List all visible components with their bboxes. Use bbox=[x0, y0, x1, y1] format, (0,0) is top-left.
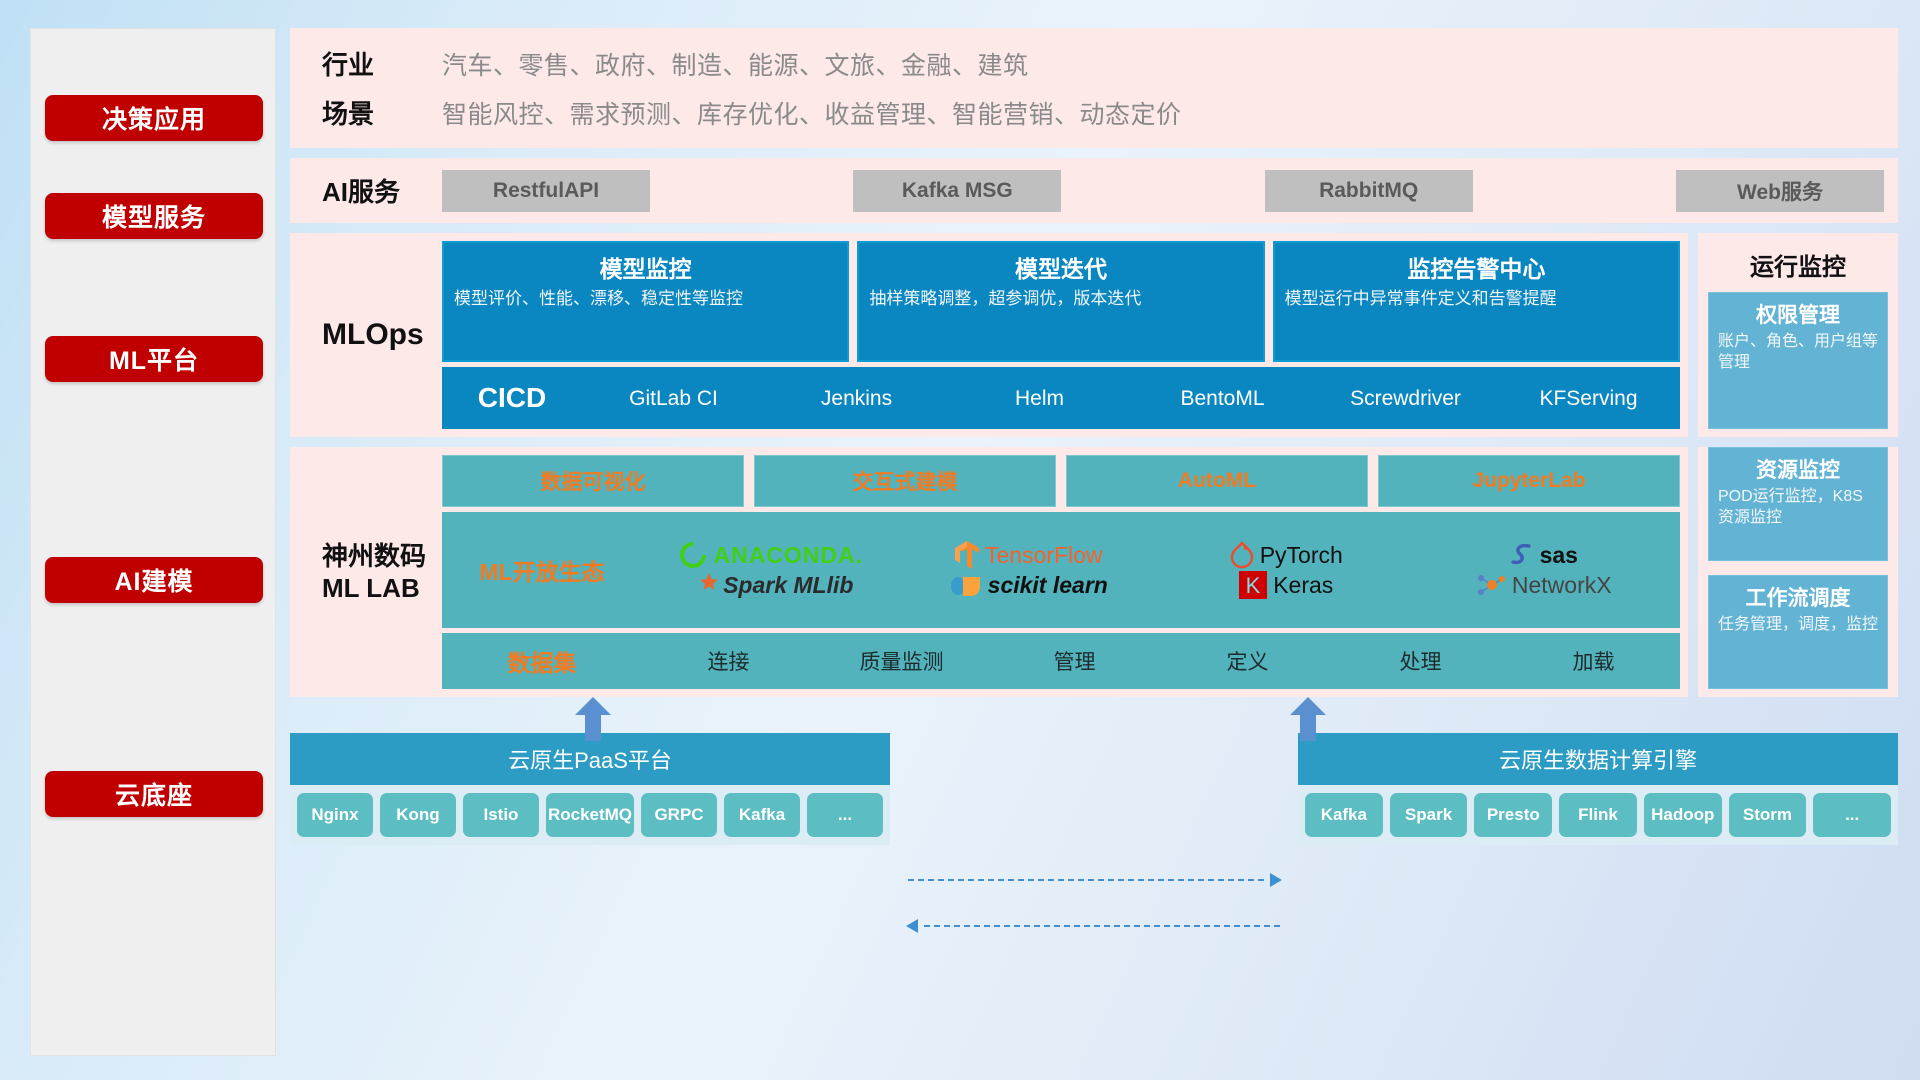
spark-mllib-label: Spark MLlib bbox=[723, 572, 853, 599]
scenario-row: 场景 智能风控、需求预测、库存优化、收益管理、智能营销、动态定价 bbox=[322, 94, 1898, 131]
tool-jupyterlab[interactable]: JupyterLab bbox=[1378, 455, 1680, 507]
ml-ecosystem-label: ML开放生态 bbox=[442, 553, 642, 587]
dataset-label: 数据集 bbox=[442, 644, 642, 678]
paas-chip-more[interactable]: ... bbox=[807, 793, 883, 837]
pytorch-label: PyTorch bbox=[1260, 542, 1343, 569]
cicd-item-bentoml[interactable]: BentoML bbox=[1131, 388, 1314, 409]
decision-apps-band: 行业 汽车、零售、政府、制造、能源、文旅、金融、建筑 场景 智能风控、需求预测、… bbox=[290, 28, 1898, 148]
dataset-item-define[interactable]: 定义 bbox=[1161, 646, 1334, 676]
ml-platform-band: MLOps 模型监控 模型评价、性能、漂移、稳定性等监控 模型迭代 抽样策略调整… bbox=[290, 233, 1898, 437]
networkx-logo: NetworkX bbox=[1475, 571, 1612, 599]
scikit-learn-label: scikit learn bbox=[988, 572, 1108, 599]
mlops-card-alert-center[interactable]: 监控告警中心 模型运行中异常事件定义和告警提醒 bbox=[1273, 241, 1680, 362]
mlops-card-model-iteration[interactable]: 模型迭代 抽样策略调整，超参调优，版本迭代 bbox=[857, 241, 1264, 362]
cicd-item-kfserving[interactable]: KFServing bbox=[1497, 388, 1680, 409]
anaconda-logo: ANACONDA. bbox=[678, 540, 863, 570]
compute-chip-hadoop[interactable]: Hadoop bbox=[1644, 793, 1722, 837]
paas-chip-istio[interactable]: Istio bbox=[463, 793, 539, 837]
card-title: 模型监控 bbox=[454, 250, 837, 284]
paas-chip-grpc[interactable]: GRPC bbox=[641, 793, 717, 837]
cicd-row: CICD GitLab CI Jenkins Helm BentoML Scre… bbox=[442, 367, 1680, 429]
tool-automl[interactable]: AutoML bbox=[1066, 455, 1368, 507]
rail-label: 决策应用 bbox=[102, 100, 206, 136]
cicd-items: GitLab CI Jenkins Helm BentoML Screwdriv… bbox=[582, 388, 1680, 409]
compute-chip-storm[interactable]: Storm bbox=[1729, 793, 1807, 837]
cicd-item-gitlab-ci[interactable]: GitLab CI bbox=[582, 388, 765, 409]
ai-service-label: AI服务 bbox=[322, 172, 442, 209]
rail-label: ML平台 bbox=[109, 341, 199, 377]
networkx-label: NetworkX bbox=[1512, 572, 1612, 599]
ml-lab-tool-row: 数据可视化 交互式建模 AutoML JupyterLab bbox=[442, 455, 1680, 507]
card-desc: 模型评价、性能、漂移、稳定性等监控 bbox=[454, 288, 837, 310]
dashed-line-bottom bbox=[924, 925, 1280, 927]
ai-service-band: AI服务 RestfulAPI Kafka MSG RabbitMQ Web服务 bbox=[290, 158, 1898, 223]
card-desc: 任务管理，调度，监控 bbox=[1718, 615, 1878, 636]
arrow-up-compute bbox=[1290, 697, 1326, 741]
tensorflow-label: TensorFlow bbox=[985, 542, 1103, 569]
dataset-item-process[interactable]: 处理 bbox=[1334, 646, 1507, 676]
paas-chip-kong[interactable]: Kong bbox=[380, 793, 456, 837]
cicd-item-jenkins[interactable]: Jenkins bbox=[765, 388, 948, 409]
ai-service-button-web[interactable]: Web服务 bbox=[1676, 170, 1884, 212]
dataset-item-manage[interactable]: 管理 bbox=[988, 646, 1161, 676]
mlops-card-list: 模型监控 模型评价、性能、漂移、稳定性等监控 模型迭代 抽样策略调整，超参调优，… bbox=[442, 241, 1680, 362]
sas-logo: sas bbox=[1509, 541, 1578, 569]
scikit-learn-icon bbox=[949, 571, 983, 599]
compute-chip-spark[interactable]: Spark bbox=[1390, 793, 1468, 837]
scenario-list: 智能风控、需求预测、库存优化、收益管理、智能营销、动态定价 bbox=[442, 95, 1182, 131]
runtime-monitor-panel-lower: 资源监控 POD运行监控，K8S资源监控 工作流调度 任务管理，调度，监控 bbox=[1698, 447, 1898, 697]
compute-engine-column: 云原生数据计算引擎 Kafka Spark Presto Flink Hadoo… bbox=[1298, 733, 1898, 845]
paas-chip-rocketmq[interactable]: RocketMQ bbox=[546, 793, 634, 837]
monitor-card-permission[interactable]: 权限管理 账户、角色、用户组等管理 bbox=[1708, 292, 1888, 429]
mlops-card-model-monitoring[interactable]: 模型监控 模型评价、性能、漂移、稳定性等监控 bbox=[442, 241, 849, 362]
ai-modeling-band: 神州数码 ML LAB 数据可视化 交互式建模 AutoML JupyterLa… bbox=[290, 447, 1898, 697]
mlops-content: 模型监控 模型评价、性能、漂移、稳定性等监控 模型迭代 抽样策略调整，超参调优，… bbox=[442, 241, 1680, 429]
cicd-item-screwdriver[interactable]: Screwdriver bbox=[1314, 388, 1497, 409]
sas-icon bbox=[1509, 541, 1535, 569]
dataset-item-load[interactable]: 加载 bbox=[1507, 646, 1680, 676]
compute-chip-kafka[interactable]: Kafka bbox=[1305, 793, 1383, 837]
ml-lab-label-line2: ML LAB bbox=[322, 572, 442, 605]
scikit-learn-logo: scikit learn bbox=[949, 571, 1108, 599]
mlops-label: MLOps bbox=[322, 241, 442, 429]
card-desc: 抽样策略调整，超参调优，版本迭代 bbox=[869, 288, 1252, 310]
card-title: 资源监控 bbox=[1718, 454, 1878, 484]
card-title: 工作流调度 bbox=[1718, 582, 1878, 612]
rail-pill-cloud-foundation[interactable]: 云底座 bbox=[45, 771, 263, 817]
compute-engine-title: 云原生数据计算引擎 bbox=[1298, 733, 1898, 785]
compute-chip-presto[interactable]: Presto bbox=[1474, 793, 1552, 837]
ml-ecosystem-logos: ANACONDA. TensorFlow bbox=[642, 540, 1680, 600]
ml-lab-label: 神州数码 ML LAB bbox=[322, 455, 442, 689]
mlops-panel: MLOps 模型监控 模型评价、性能、漂移、稳定性等监控 模型迭代 抽样策略调整… bbox=[290, 233, 1688, 437]
pytorch-icon bbox=[1229, 540, 1255, 570]
keras-label: Keras bbox=[1273, 572, 1333, 599]
dashed-arrow-left bbox=[906, 919, 918, 933]
card-title: 监控告警中心 bbox=[1285, 250, 1668, 284]
content-stack: 行业 汽车、零售、政府、制造、能源、文旅、金融、建筑 场景 智能风控、需求预测、… bbox=[290, 28, 1898, 1056]
cicd-item-helm[interactable]: Helm bbox=[948, 388, 1131, 409]
diagram-root: 决策应用 模型服务 ML平台 AI建模 云底座 行业 汽车、零售、政府、制造、能… bbox=[0, 0, 1920, 1080]
spark-icon bbox=[688, 572, 718, 598]
rail-label: 云底座 bbox=[115, 776, 193, 812]
industry-row: 行业 汽车、零售、政府、制造、能源、文旅、金融、建筑 bbox=[322, 45, 1898, 82]
industry-list: 汽车、零售、政府、制造、能源、文旅、金融、建筑 bbox=[442, 46, 1029, 82]
ml-lab-label-line1: 神州数码 bbox=[322, 540, 442, 573]
cloud-foundation-band: 云原生PaaS平台 Nginx Kong Istio RocketMQ GRPC… bbox=[290, 707, 1898, 847]
rail-label: AI建模 bbox=[114, 562, 193, 598]
dataset-item-quality[interactable]: 质量监测 bbox=[815, 646, 988, 676]
card-title: 权限管理 bbox=[1718, 299, 1878, 329]
ai-service-buttons: RestfulAPI Kafka MSG RabbitMQ Web服务 bbox=[442, 170, 1898, 212]
card-title: 模型迭代 bbox=[869, 250, 1252, 284]
spark-mllib-logo: Spark MLlib bbox=[688, 572, 853, 599]
runtime-monitor-panel: 运行监控 权限管理 账户、角色、用户组等管理 bbox=[1698, 233, 1898, 437]
networkx-icon bbox=[1475, 571, 1507, 599]
runtime-monitor-cards: 权限管理 账户、角色、用户组等管理 bbox=[1708, 292, 1888, 429]
card-desc: 账户、角色、用户组等管理 bbox=[1718, 332, 1878, 374]
card-desc: 模型运行中异常事件定义和告警提醒 bbox=[1285, 288, 1668, 310]
rail-pill-model-services[interactable]: 模型服务 bbox=[45, 193, 263, 239]
anaconda-icon bbox=[678, 540, 708, 570]
anaconda-label: ANACONDA. bbox=[713, 542, 863, 569]
paas-column: 云原生PaaS平台 Nginx Kong Istio RocketMQ GRPC… bbox=[290, 733, 890, 845]
dataset-items: 连接 质量监测 管理 定义 处理 加载 bbox=[642, 646, 1680, 676]
ml-ecosystem-row: ML开放生态 ANACONDA. bbox=[442, 512, 1680, 628]
dataset-row: 数据集 连接 质量监测 管理 定义 处理 加载 bbox=[442, 633, 1680, 689]
paas-chip-kafka[interactable]: Kafka bbox=[724, 793, 800, 837]
paas-chip-nginx[interactable]: Nginx bbox=[297, 793, 373, 837]
rail-label: 模型服务 bbox=[102, 198, 206, 234]
rail-pill-ai-modeling[interactable]: AI建模 bbox=[45, 557, 263, 603]
pytorch-logo: PyTorch bbox=[1229, 540, 1343, 570]
monitor-card-resource[interactable]: 资源监控 POD运行监控，K8S资源监控 bbox=[1708, 447, 1888, 561]
dashed-arrow-right bbox=[1270, 873, 1282, 887]
paas-chips: Nginx Kong Istio RocketMQ GRPC Kafka ... bbox=[290, 785, 890, 845]
tensorflow-logo: TensorFlow bbox=[954, 540, 1103, 570]
compute-chip-flink[interactable]: Flink bbox=[1559, 793, 1637, 837]
ml-lab-panel: 神州数码 ML LAB 数据可视化 交互式建模 AutoML JupyterLa… bbox=[290, 447, 1688, 697]
tensorflow-icon bbox=[954, 540, 980, 570]
tool-data-visualization[interactable]: 数据可视化 bbox=[442, 455, 744, 507]
arrow-up-paas bbox=[575, 697, 611, 741]
tool-interactive-modeling[interactable]: 交互式建模 bbox=[754, 455, 1056, 507]
ml-lab-content: 数据可视化 交互式建模 AutoML JupyterLab ML开放生态 bbox=[442, 455, 1680, 689]
keras-icon: K bbox=[1238, 570, 1268, 600]
ai-service-button-kafka-msg[interactable]: Kafka MSG bbox=[853, 170, 1061, 212]
industry-label: 行业 bbox=[322, 45, 442, 82]
sas-label: sas bbox=[1540, 542, 1578, 569]
cicd-label: CICD bbox=[442, 382, 582, 414]
rail-pill-ml-platform[interactable]: ML平台 bbox=[45, 336, 263, 382]
ai-service-button-restfulapi[interactable]: RestfulAPI bbox=[442, 170, 650, 212]
svg-text:K: K bbox=[1246, 573, 1261, 598]
runtime-monitor-title: 运行监控 bbox=[1708, 247, 1888, 282]
compute-engine-chips: Kafka Spark Presto Flink Hadoop Storm ..… bbox=[1298, 785, 1898, 845]
dashed-line-top bbox=[908, 879, 1264, 881]
layer-rail: 决策应用 模型服务 ML平台 AI建模 云底座 bbox=[30, 28, 276, 1056]
compute-chip-more[interactable]: ... bbox=[1813, 793, 1891, 837]
scenario-label: 场景 bbox=[322, 94, 442, 131]
card-desc: POD运行监控，K8S资源监控 bbox=[1718, 487, 1878, 529]
dataset-item-connect[interactable]: 连接 bbox=[642, 646, 815, 676]
monitor-card-workflow[interactable]: 工作流调度 任务管理，调度，监控 bbox=[1708, 575, 1888, 689]
keras-logo: K Keras bbox=[1238, 570, 1333, 600]
ai-service-button-rabbitmq[interactable]: RabbitMQ bbox=[1265, 170, 1473, 212]
rail-pill-decision-apps[interactable]: 决策应用 bbox=[45, 95, 263, 141]
